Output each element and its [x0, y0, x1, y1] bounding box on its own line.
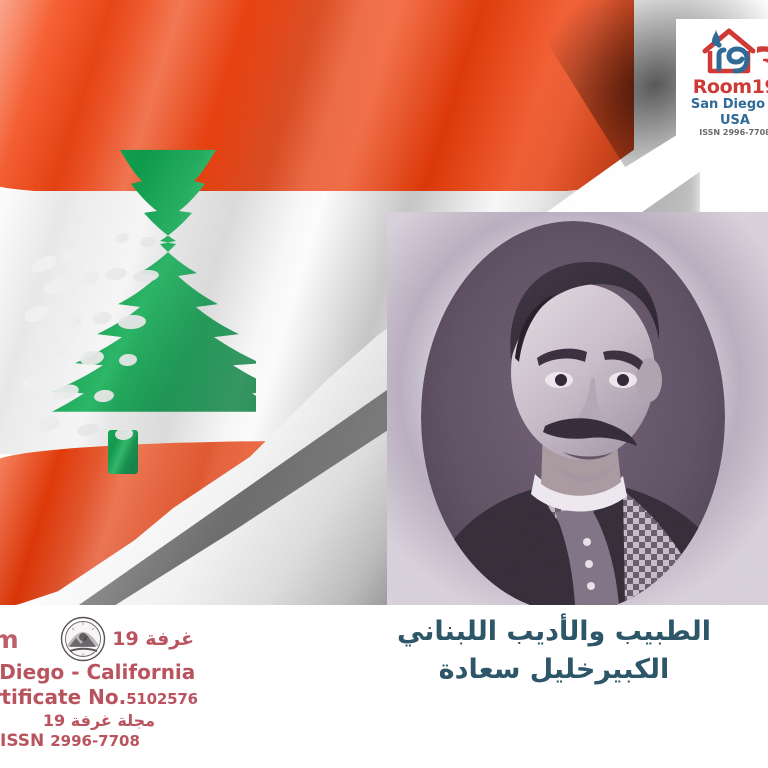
vintage-portrait-photo-icon — [387, 212, 768, 605]
imprint-magazine-arabic: مجلة غرفة 19 — [6, 711, 192, 730]
imprint-city-line: n Diego - California — [0, 660, 238, 684]
cedar-tree-icon — [0, 146, 256, 476]
imprint-issn-line: ISSN 2996-7708 — [0, 731, 238, 751]
imprint-room-label: om — [0, 625, 18, 654]
imprint-certificate-line: ertificate No.5102576 — [0, 685, 238, 709]
logo-city-label: San Diego C — [676, 98, 768, 113]
imprint-issn-number: 2996-7708 — [50, 732, 140, 750]
bottom-band: الطبيب والأديب اللبناني الكبيرخليل سعادة… — [0, 605, 768, 768]
california-state-seal-icon — [60, 616, 106, 662]
logo-mark — [676, 25, 768, 77]
caption-block: الطبيب والأديب اللبناني الكبيرخليل سعادة — [364, 613, 744, 690]
imprint-ghurfa-label: غرفة 19 — [112, 628, 194, 650]
logo-room-label: Room19 — [676, 78, 768, 98]
logo-country-label: USA — [676, 113, 768, 129]
room19-logo[interactable]: Room19 San Diego C USA ISSN 2996-7708 — [676, 19, 768, 140]
caption-line-1: الطبيب والأديب اللبناني — [364, 613, 744, 651]
imprint-row-room: om غرفة 19 — [0, 619, 238, 659]
caption-line-2: الكبيرخليل سعادة — [364, 651, 744, 689]
logo-issn-label: ISSN 2996-7708 — [676, 128, 768, 138]
imprint-certificate-label: ertificate No. — [0, 685, 126, 709]
magazine-cover: الطبيب والأديب اللبناني الكبيرخليل سعادة… — [0, 0, 768, 768]
imprint-certificate-number: 5102576 — [126, 690, 198, 708]
imprint-issn-label: ISSN — [0, 731, 44, 751]
imprint-block: om غرفة 19 n Diego — [0, 619, 238, 751]
portrait-photo — [387, 212, 768, 605]
house-with-arabic-19-icon — [679, 25, 768, 75]
